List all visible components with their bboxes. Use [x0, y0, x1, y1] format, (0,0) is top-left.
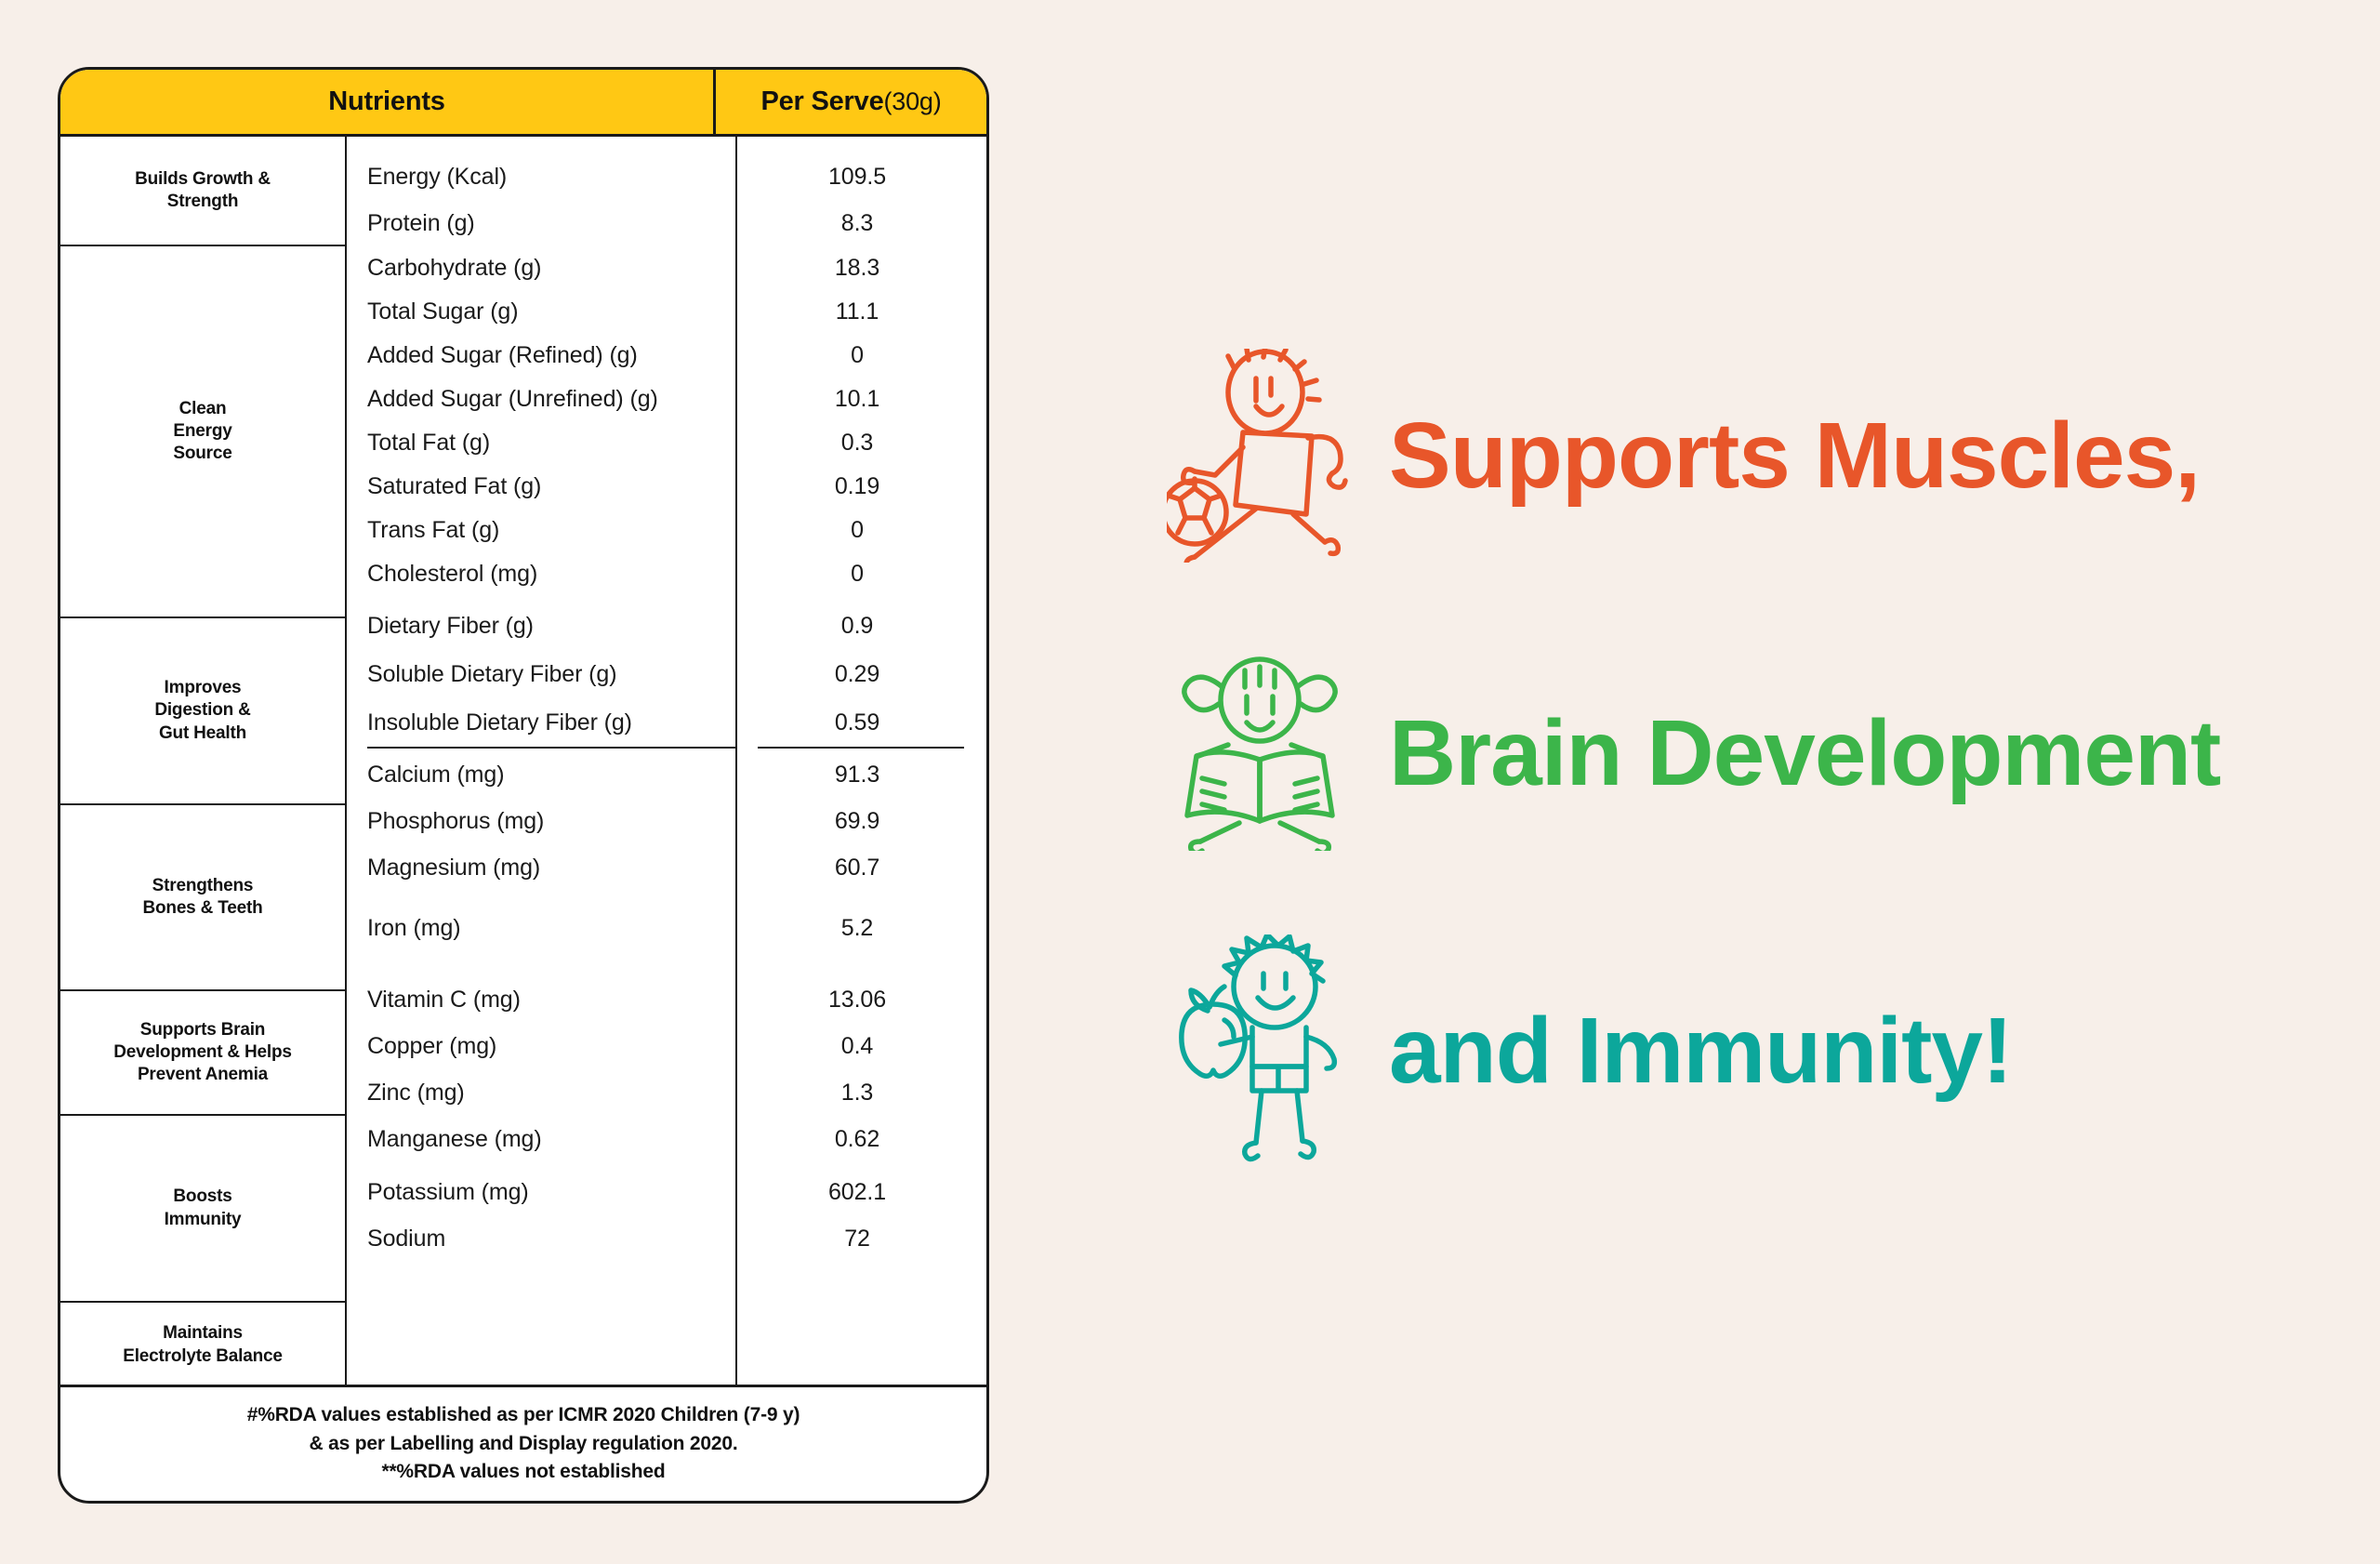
- nutrient-value: 5.2: [735, 915, 986, 942]
- benefit-group-cell: Builds Growth &Strength: [60, 137, 345, 246]
- nutrient-value: 10.1: [735, 386, 986, 413]
- nutrient-row: Added Sugar (Unrefined) (g)10.1: [345, 378, 986, 421]
- nutrient-row: Protein (g)8.3: [345, 200, 986, 246]
- nutrient-row: Vitamin C (mg)13.06: [345, 976, 986, 1023]
- footnote-block: #%RDA values established as per ICMR 202…: [60, 1385, 986, 1501]
- nutrient-value: 0: [735, 561, 986, 588]
- nutrient-row: Insoluble Dietary Fiber (g)0.59: [345, 698, 986, 747]
- benefits-column: Builds Growth &StrengthCleanEnergySource…: [60, 137, 345, 1387]
- nutrient-row: Manganese (mg)0.62: [345, 1116, 986, 1162]
- nutrient-name: Total Sugar (g): [345, 298, 735, 325]
- claim-immunity: and Immunity!: [1162, 902, 2324, 1200]
- girl-reading-book-icon: [1162, 656, 1357, 851]
- nutrient-rows-column: Energy (Kcal)109.5Protein (g)8.3Carbohyd…: [345, 137, 986, 1387]
- nutrient-row: Copper (mg)0.4: [345, 1023, 986, 1069]
- nutrient-name: Soluble Dietary Fiber (g): [345, 661, 735, 688]
- nutrient-row: Soluble Dietary Fiber (g)0.29: [345, 650, 986, 698]
- nutrient-name: Manganese (mg): [345, 1126, 735, 1153]
- table-header-row: Nutrients Per Serve(30g): [60, 70, 986, 137]
- nutrient-value: 18.3: [735, 255, 986, 282]
- nutrient-name: Phosphorus (mg): [345, 808, 735, 835]
- nutrient-row: Total Fat (g)0.3: [345, 421, 986, 465]
- benefit-group-cell: CleanEnergySource: [60, 246, 345, 618]
- nutrient-name: Zinc (mg): [345, 1080, 735, 1107]
- nutrient-name: Cholesterol (mg): [345, 561, 735, 588]
- claim-text-muscles: Supports Muscles,: [1357, 409, 2324, 502]
- nutrient-value: 109.5: [735, 164, 986, 191]
- nutrient-row: Zinc (mg)1.3: [345, 1069, 986, 1116]
- section-separator-right: [758, 747, 964, 749]
- nutrient-name: Vitamin C (mg): [345, 987, 735, 1014]
- nutrient-value: 0.4: [735, 1033, 986, 1060]
- nutrient-value: 602.1: [735, 1179, 986, 1206]
- nutrient-row: Trans Fat (g)0: [345, 509, 986, 552]
- nutrient-name: Saturated Fat (g): [345, 473, 735, 500]
- boy-holding-apple-icon: [1162, 934, 1357, 1167]
- nutrient-name: Protein (g): [345, 210, 735, 237]
- nutrient-name: Carbohydrate (g): [345, 255, 735, 282]
- nutrient-value: 0.3: [735, 430, 986, 457]
- nutrient-name: Calcium (mg): [345, 762, 735, 789]
- nutrient-value: 91.3: [735, 762, 986, 789]
- nutrient-name: Insoluble Dietary Fiber (g): [345, 709, 735, 736]
- nutrient-name: Sodium: [345, 1226, 735, 1253]
- nutrient-name: Added Sugar (Refined) (g): [345, 342, 735, 369]
- nutrient-value: 0: [735, 342, 986, 369]
- nutrient-row: Added Sugar (Refined) (g)0: [345, 334, 986, 378]
- nutrient-row: Dietary Fiber (g)0.9: [345, 602, 986, 650]
- claim-brain-development: Brain Development: [1162, 604, 2324, 902]
- nutrient-value: 0.59: [735, 709, 986, 736]
- benefit-claims-list: Supports Muscles,: [1162, 307, 2324, 1200]
- column-header-nutrients: Nutrients: [60, 70, 716, 134]
- nutrient-row: Sodium72: [345, 1215, 986, 1262]
- nutrient-name: Iron (mg): [345, 915, 735, 942]
- claim-text-immunity: and Immunity!: [1357, 1004, 2324, 1097]
- boy-kicking-soccer-ball-icon: [1162, 349, 1357, 563]
- per-serve-label: Per Serve: [760, 86, 883, 117]
- footnote-line: **%RDA values not established: [381, 1458, 665, 1486]
- benefit-group-cell: StrengthensBones & Teeth: [60, 805, 345, 991]
- footnote-line: & as per Labelling and Display regulatio…: [310, 1430, 738, 1458]
- benefit-group-cell: Supports BrainDevelopment & HelpsPrevent…: [60, 991, 345, 1116]
- nutrient-value: 69.9: [735, 808, 986, 835]
- nutrient-row: Total Sugar (g)11.1: [345, 290, 986, 334]
- nutrient-row: Iron (mg)5.2: [345, 905, 986, 951]
- per-serve-amount: (30g): [884, 87, 942, 116]
- nutrient-value: 11.1: [735, 298, 986, 325]
- benefit-group-cell: MaintainsElectrolyte Balance: [60, 1303, 345, 1387]
- nutrient-name: Energy (Kcal): [345, 164, 735, 191]
- nutrient-name: Magnesium (mg): [345, 855, 735, 881]
- table-body: Builds Growth &StrengthCleanEnergySource…: [60, 137, 986, 1387]
- nutrient-value: 72: [735, 1226, 986, 1253]
- nutrient-value: 8.3: [735, 210, 986, 237]
- nutrient-value: 13.06: [735, 987, 986, 1014]
- nutrient-name: Added Sugar (Unrefined) (g): [345, 386, 735, 413]
- column-divider-benefits: [345, 137, 347, 1387]
- nutrient-value: 0.62: [735, 1126, 986, 1153]
- column-header-per-serve: Per Serve(30g): [716, 70, 986, 134]
- nutrient-row: Carbohydrate (g)18.3: [345, 246, 986, 290]
- nutrient-value: 0.29: [735, 661, 986, 688]
- nutrition-information-panel: Nutrients Per Serve(30g) Builds Growth &…: [58, 67, 989, 1504]
- nutrient-value: 0.19: [735, 473, 986, 500]
- column-divider-values: [735, 137, 737, 1387]
- footnote-line: #%RDA values established as per ICMR 202…: [247, 1401, 800, 1429]
- nutrient-name: Total Fat (g): [345, 430, 735, 457]
- nutrient-row: Magnesium (mg)60.7: [345, 844, 986, 891]
- benefit-group-cell: BoostsImmunity: [60, 1116, 345, 1303]
- nutrient-row: Potassium (mg)602.1: [345, 1169, 986, 1215]
- nutrient-row: Calcium (mg)91.3: [345, 751, 986, 798]
- nutrient-value: 1.3: [735, 1080, 986, 1107]
- nutrient-row: Saturated Fat (g)0.19: [345, 465, 986, 509]
- claim-text-brain: Brain Development: [1357, 707, 2324, 800]
- section-separator-left: [367, 747, 735, 749]
- nutrient-value: 0: [735, 517, 986, 544]
- nutrient-value: 60.7: [735, 855, 986, 881]
- nutrient-name: Trans Fat (g): [345, 517, 735, 544]
- nutrient-name: Potassium (mg): [345, 1179, 735, 1206]
- nutrient-name: Dietary Fiber (g): [345, 613, 735, 640]
- nutrient-name: Copper (mg): [345, 1033, 735, 1060]
- nutrient-row: Energy (Kcal)109.5: [345, 153, 986, 200]
- nutrient-value: 0.9: [735, 613, 986, 640]
- benefit-group-cell: ImprovesDigestion &Gut Health: [60, 618, 345, 805]
- claim-supports-muscles: Supports Muscles,: [1162, 307, 2324, 604]
- nutrient-row: Phosphorus (mg)69.9: [345, 798, 986, 844]
- nutrient-row: Cholesterol (mg)0: [345, 552, 986, 596]
